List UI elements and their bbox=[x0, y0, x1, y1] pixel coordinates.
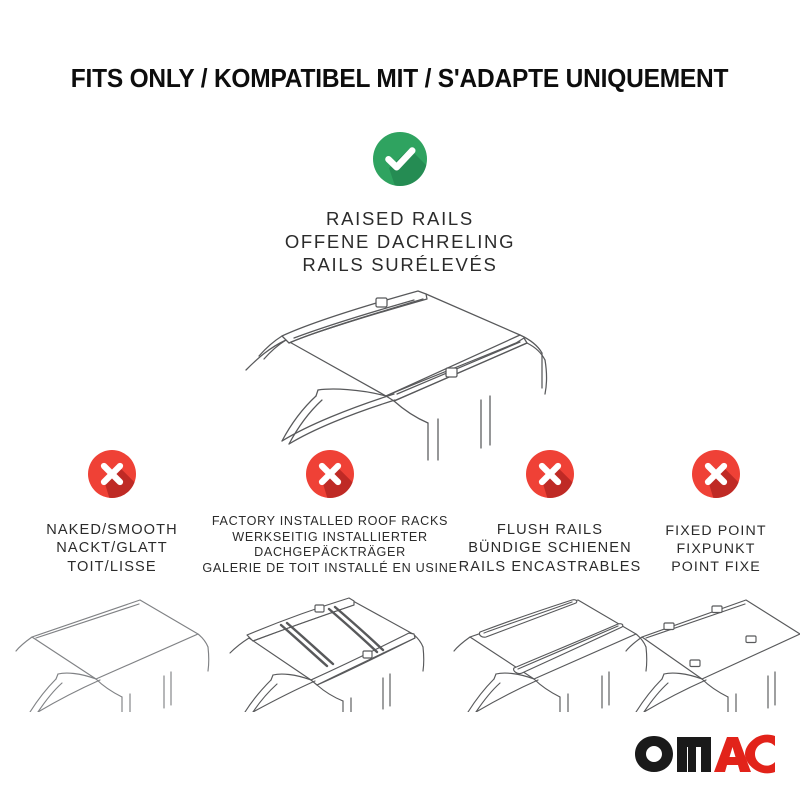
header-banner: FITS ONLY / KOMPATIBEL MIT / S'ADAPTE UN… bbox=[0, 0, 800, 112]
incompatible-item-fixed-point: FIXED POINT FIXPUNKT POINT FIXE bbox=[632, 450, 800, 712]
car-roof-with-factory-crossbars-illustration bbox=[223, 582, 437, 712]
page-title: FITS ONLY / KOMPATIBEL MIT / S'ADAPTE UN… bbox=[71, 65, 729, 94]
approved-label-line-de: OFFENE DACHRELING bbox=[285, 230, 515, 253]
incompatible-label-flush-rails: FLUSH RAILS BÜNDIGE SCHIENEN RAILS ENCAS… bbox=[459, 504, 642, 576]
label-line-en: NAKED/SMOOTH bbox=[46, 521, 178, 540]
label-line-fr: RAILS ENCASTRABLES bbox=[459, 558, 642, 577]
label-line-de: FIXPUNKT bbox=[665, 540, 766, 558]
x-circle-icon bbox=[526, 450, 574, 504]
omac-logo bbox=[634, 734, 776, 774]
approved-label-line-fr: RAILS SURÉLEVÉS bbox=[285, 253, 515, 276]
label-line-en: FIXED POINT bbox=[665, 522, 766, 540]
label-line-de-2: DACHGEPÄCKTRÄGER bbox=[202, 545, 457, 560]
x-circle-icon bbox=[306, 450, 354, 504]
label-line-en: FLUSH RAILS bbox=[459, 521, 642, 540]
car-roof-naked-smooth-illustration bbox=[12, 582, 212, 712]
car-roof-with-raised-rails-illustration bbox=[190, 288, 610, 463]
x-circle-icon bbox=[692, 450, 740, 504]
incompatible-section: NAKED/SMOOTH NACKT/GLATT TOIT/LISSE bbox=[0, 450, 800, 690]
incompatible-label-naked-smooth: NAKED/SMOOTH NACKT/GLATT TOIT/LISSE bbox=[46, 504, 178, 576]
car-roof-with-flush-rails-illustration bbox=[450, 582, 650, 712]
label-line-de: NACKT/GLATT bbox=[46, 539, 178, 558]
approved-label: RAISED RAILS OFFENE DACHRELING RAILS SUR… bbox=[285, 207, 515, 276]
incompatible-label-fixed-point: FIXED POINT FIXPUNKT POINT FIXE bbox=[665, 504, 766, 576]
check-circle-icon bbox=[373, 132, 427, 191]
incompatible-item-factory-roof-racks: FACTORY INSTALLED ROOF RACKS WERKSEITIG … bbox=[208, 450, 452, 712]
label-line-de: BÜNDIGE SCHIENEN bbox=[459, 539, 642, 558]
label-line-fr: TOIT/LISSE bbox=[46, 558, 178, 577]
x-circle-icon bbox=[88, 450, 136, 504]
approved-section: RAISED RAILS OFFENE DACHRELING RAILS SUR… bbox=[0, 132, 800, 463]
car-roof-with-fixed-points-illustration bbox=[624, 582, 800, 712]
incompatible-label-factory-roof-racks: FACTORY INSTALLED ROOF RACKS WERKSEITIG … bbox=[202, 504, 457, 576]
label-line-fr: POINT FIXE bbox=[665, 558, 766, 576]
label-line-en: FACTORY INSTALLED ROOF RACKS bbox=[202, 514, 457, 529]
approved-label-line-en: RAISED RAILS bbox=[285, 207, 515, 230]
label-line-fr: GALERIE DE TOIT INSTALLÉ EN USINE bbox=[202, 561, 457, 576]
incompatible-item-naked-smooth: NAKED/SMOOTH NACKT/GLATT TOIT/LISSE bbox=[2, 450, 222, 712]
label-line-de-1: WERKSEITIG INSTALLIERTER bbox=[202, 530, 457, 545]
